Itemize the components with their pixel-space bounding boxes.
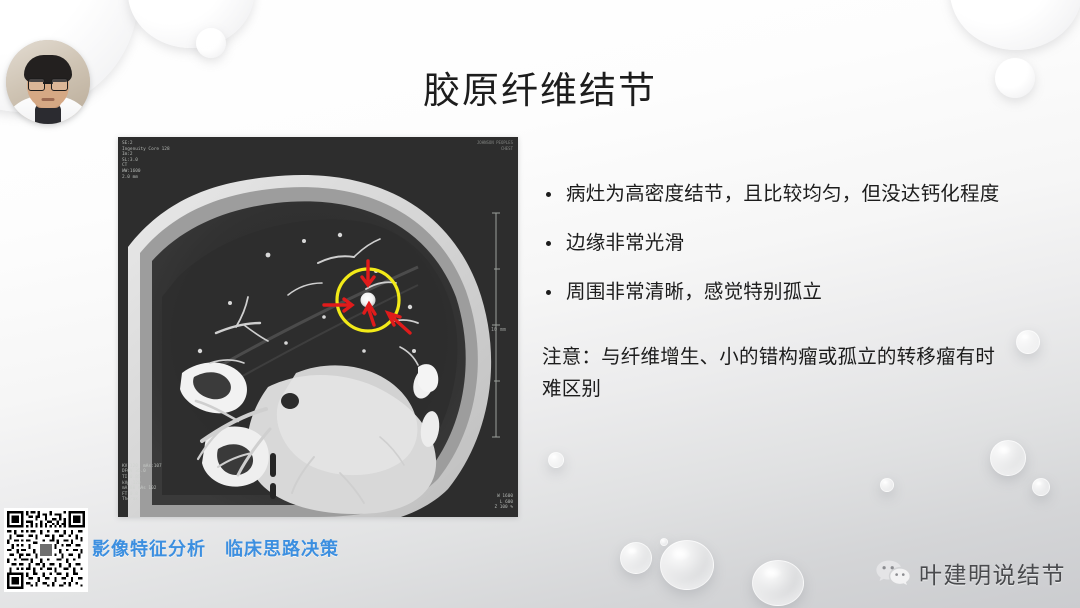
bullet-dot-icon — [546, 241, 551, 246]
decorative-bubble — [660, 540, 714, 590]
presentation-slide: 胶原纤维结节 — [0, 0, 1080, 608]
decorative-bubble — [752, 560, 804, 606]
decorative-bubble — [128, 0, 254, 48]
decorative-bubble — [620, 542, 652, 574]
ct-scale-label: 10 mm — [491, 327, 506, 333]
dicom-overlay-top-left: SE:2 Ingenuity Core 128 Im:2 SL:3.0 CT W… — [122, 141, 170, 180]
decorative-bubble — [196, 28, 226, 58]
chest-ct-image: SE:2 Ingenuity Core 128 Im:2 SL:3.0 CT W… — [118, 137, 518, 517]
dicom-overlay-bottom-left: KV:120 mAs:107 DFOV 35.0 TI 0.85 kVp 120… — [122, 464, 162, 503]
ct-bronchus — [281, 393, 299, 409]
wechat-qr-code[interactable] — [4, 508, 88, 592]
bullet-text: 边缘非常光滑 — [566, 233, 684, 254]
tagline-text: 影像特征分析 临床思路决策 — [92, 535, 339, 561]
decorative-bubble — [1016, 330, 1040, 354]
note-text: 注意：与纤维增生、小的错构瘤或孤立的转移瘤有时难区别 — [542, 342, 1004, 406]
decorative-bubble — [880, 478, 894, 492]
decorative-bubble — [990, 440, 1026, 476]
bullet-item: 周围非常清晰，感觉特别孤立 — [542, 278, 1004, 308]
ct-scan-graphic — [118, 137, 518, 517]
bullet-text: 病灶为高密度结节，且比较均匀，但没达钙化程度 — [566, 184, 999, 205]
decorative-bubble — [950, 0, 1080, 50]
slide-title: 胶原纤维结节 — [0, 60, 1080, 114]
decorative-bubble — [548, 452, 564, 468]
wechat-brand: 叶建明说结节 — [876, 556, 1066, 590]
qr-code-graphic — [7, 511, 85, 589]
slide-body-text: 病灶为高密度结节，且比较均匀，但没达钙化程度 边缘非常光滑 周围非常清晰，感觉特… — [542, 180, 1004, 406]
bullet-dot-icon — [546, 290, 551, 295]
bullet-dot-icon — [546, 192, 551, 197]
decorative-bubble — [660, 538, 668, 546]
brand-name: 叶建明说结节 — [919, 556, 1066, 590]
wechat-icon — [876, 559, 910, 587]
dicom-overlay-top-right: JOHNSON PEOPLES CHEST — [477, 140, 513, 151]
bullet-item: 边缘非常光滑 — [542, 229, 1004, 259]
bullet-item: 病灶为高密度结节，且比较均匀，但没达钙化程度 — [542, 180, 1004, 210]
decorative-bubble — [1032, 478, 1050, 496]
bullet-text: 周围非常清晰，感觉特别孤立 — [566, 282, 822, 303]
dicom-overlay-bottom-right: W 1600 L 600 Z 100 % — [494, 494, 513, 511]
